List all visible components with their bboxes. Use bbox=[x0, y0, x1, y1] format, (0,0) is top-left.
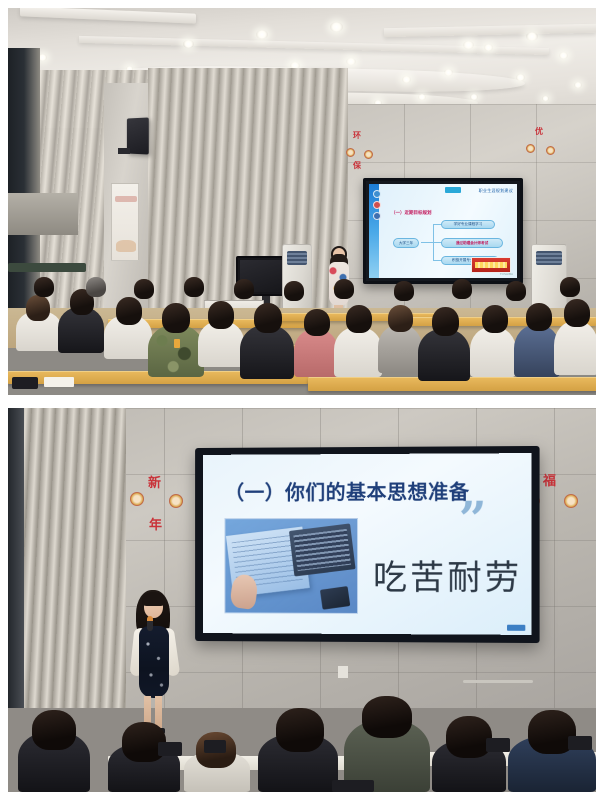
bottom-photo-presenter: 新 年 福 bbox=[8, 408, 596, 792]
slide-keyword: 吃苦耐劳 bbox=[373, 550, 522, 600]
aircon-vent bbox=[536, 251, 562, 265]
downlight-icon bbox=[256, 30, 268, 39]
bag-item bbox=[12, 377, 38, 389]
wall-decal-character: 环 bbox=[353, 130, 361, 141]
wall-decal-character: 新 bbox=[148, 472, 161, 491]
audience-head bbox=[284, 281, 304, 301]
ceiling-beam bbox=[384, 24, 596, 37]
audience-head bbox=[334, 279, 354, 299]
audience-head bbox=[208, 301, 234, 329]
wall-decal-character: 优 bbox=[535, 126, 543, 137]
downlight-icon bbox=[402, 76, 411, 83]
audience-head bbox=[446, 716, 492, 758]
top-photo-lecture-hall: 职业生涯规划建议 （一）近期目标规划 大学三年 学好专业课程学习 通过助理会计师… bbox=[8, 8, 596, 395]
slide-icon-column bbox=[373, 190, 381, 223]
photo-collage: 职业生涯规划建议 （一）近期目标规划 大学三年 学好专业课程学习 通过助理会计师… bbox=[0, 0, 600, 800]
downlight-icon bbox=[330, 22, 343, 32]
slide-title: （一）你们的基本思想准备 bbox=[224, 476, 469, 506]
slide-bullet-icon bbox=[373, 212, 381, 220]
audience-head bbox=[526, 303, 552, 331]
desk-device bbox=[158, 742, 182, 756]
audience-torso bbox=[378, 325, 422, 373]
audience-torso bbox=[470, 327, 516, 377]
audience-head bbox=[346, 305, 372, 333]
audience-head bbox=[116, 297, 142, 325]
presenter-hair-front bbox=[142, 592, 165, 606]
screen-brand-logo: TOSHIBA bbox=[500, 272, 513, 276]
wall-decal-circle bbox=[564, 494, 578, 508]
wall-decal-circle bbox=[364, 150, 373, 159]
audience-head bbox=[234, 279, 254, 299]
wall-decal-circle bbox=[130, 492, 144, 506]
audience-head bbox=[34, 277, 54, 297]
aircon-vent bbox=[287, 251, 307, 265]
downlight-icon bbox=[183, 40, 194, 48]
downlight-icon bbox=[470, 94, 478, 100]
audience-head bbox=[134, 279, 154, 299]
downlight-icon bbox=[484, 44, 493, 51]
audience-head bbox=[432, 307, 459, 336]
handout-paper bbox=[44, 377, 74, 387]
audience-head bbox=[184, 277, 204, 297]
wall-socket bbox=[338, 666, 348, 678]
curtain-shadow bbox=[8, 408, 24, 708]
slide-section-heading: （一）近期目标规划 bbox=[391, 210, 432, 216]
audience-head bbox=[86, 277, 106, 297]
collage-divider bbox=[0, 395, 600, 408]
mindmap-branch-node: 学好专业课程学习 bbox=[441, 220, 495, 229]
wall-decal-character: 福 bbox=[543, 470, 556, 489]
led-screen: 职业生涯规划建议 （一）近期目标规划 大学三年 学好专业课程学习 通过助理会计师… bbox=[363, 178, 523, 284]
presenter-dress bbox=[139, 626, 169, 698]
mindmap-branch-node: 通过助理会计师考试 bbox=[441, 238, 503, 248]
downlight-icon bbox=[346, 58, 356, 65]
audience-head bbox=[388, 305, 413, 332]
slide-header-title: 职业生涯规划建议 bbox=[479, 188, 513, 194]
balcony-edge bbox=[8, 193, 78, 235]
audience-head bbox=[276, 708, 324, 752]
audience-head bbox=[560, 277, 580, 297]
downlight-icon bbox=[444, 69, 453, 76]
wall-poster bbox=[111, 183, 139, 261]
audience-head bbox=[362, 696, 412, 738]
wall-decal-character: 保 bbox=[353, 160, 361, 171]
audience-head bbox=[452, 279, 472, 299]
loudspeaker-icon bbox=[127, 117, 149, 154]
slide-tag bbox=[445, 187, 461, 193]
speaker-bracket bbox=[118, 148, 130, 154]
audience-head bbox=[394, 281, 414, 301]
led-screen: （一）你们的基本思想准备 ” 吃苦耐劳 bbox=[193, 447, 538, 642]
audience-head bbox=[32, 710, 76, 750]
wall-decal-circle bbox=[346, 148, 355, 157]
desk-device bbox=[204, 740, 226, 753]
mindmap-root-node: 大学三年 bbox=[393, 238, 419, 248]
audience-head bbox=[162, 303, 190, 333]
photo-laptop-keyboard bbox=[289, 523, 356, 576]
audience-area bbox=[8, 277, 596, 395]
microphone-icon bbox=[147, 616, 153, 631]
audience-head bbox=[506, 281, 526, 301]
desk-device bbox=[486, 738, 510, 752]
audience-torso bbox=[334, 327, 382, 377]
floor-cable bbox=[463, 680, 533, 683]
audience-head bbox=[254, 303, 282, 333]
audience-head bbox=[26, 295, 50, 321]
desk-device bbox=[332, 780, 374, 792]
downlight-icon bbox=[542, 96, 549, 101]
audience-torso bbox=[294, 329, 338, 377]
wall-decal-circle bbox=[526, 144, 535, 153]
downlight-icon bbox=[526, 32, 538, 41]
audience-head bbox=[482, 305, 508, 333]
audience-torso bbox=[418, 329, 470, 381]
desk-device bbox=[568, 736, 592, 750]
downlight-icon bbox=[559, 52, 568, 59]
downlight-icon bbox=[574, 82, 582, 88]
slide-surface: （一）你们的基本思想准备 ” 吃苦耐劳 bbox=[203, 453, 532, 635]
ceiling-beam bbox=[20, 8, 196, 24]
audience-area bbox=[8, 696, 596, 792]
slide-inner-photo bbox=[224, 518, 358, 614]
side-curtain bbox=[8, 408, 126, 708]
slide-bullet-icon bbox=[373, 190, 381, 198]
screen-brand-logo bbox=[507, 625, 525, 631]
audience-torso bbox=[554, 321, 596, 375]
downlight-icon bbox=[418, 94, 426, 100]
slide-bullet-icon bbox=[373, 201, 381, 209]
downlight-icon bbox=[516, 74, 525, 81]
audience-head bbox=[564, 299, 590, 327]
slide-corner-image bbox=[471, 257, 511, 273]
audience-head bbox=[304, 309, 330, 336]
slide-surface: 职业生涯规划建议 （一）近期目标规划 大学三年 学好专业课程学习 通过助理会计师… bbox=[369, 184, 517, 278]
downlight-icon bbox=[463, 41, 474, 49]
handrail bbox=[8, 263, 86, 272]
photo-phone bbox=[320, 586, 350, 610]
mindmap-connector bbox=[421, 242, 433, 243]
wall-decal-character: 年 bbox=[149, 514, 162, 533]
drink-cup bbox=[174, 339, 180, 348]
quote-mark-icon: ” bbox=[459, 506, 487, 535]
audience-torso bbox=[240, 325, 294, 379]
wall-decal-circle bbox=[546, 146, 555, 155]
ceiling-beam bbox=[79, 36, 549, 55]
wall-decal-circle bbox=[169, 494, 183, 508]
